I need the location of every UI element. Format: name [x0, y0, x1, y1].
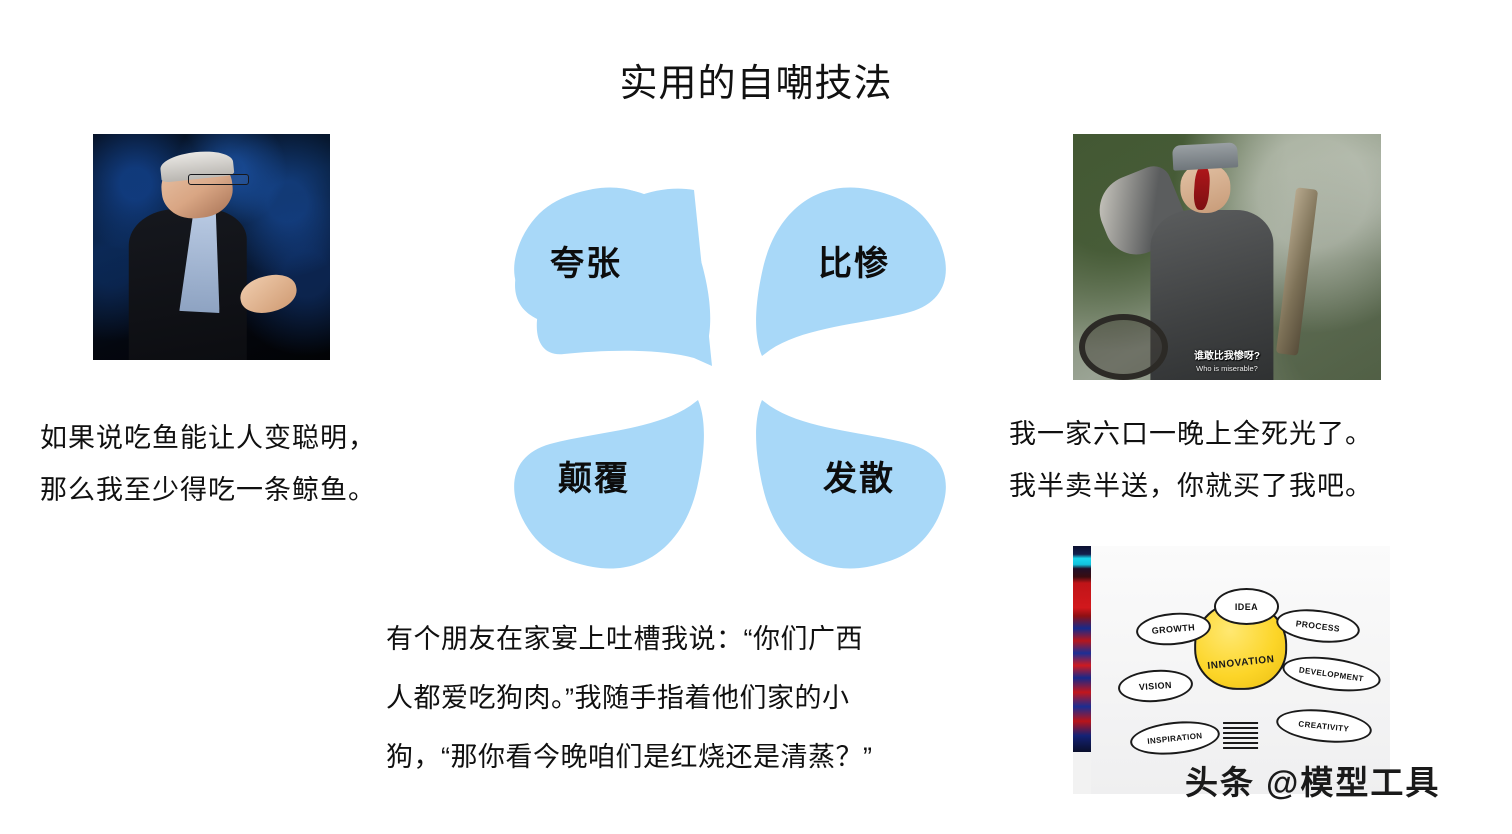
- petal-label-subvert[interactable]: 颠覆: [558, 451, 630, 500]
- mindmap-node-creativity: CREATIVITY: [1275, 705, 1374, 747]
- film-subtitle-chinese: 谁敢比我惨呀?: [1073, 351, 1381, 363]
- film-subtitle-english: Who is miserable?: [1073, 364, 1381, 374]
- caption-bottom-line-2: 人都爱吃狗肉。”我随手指着他们家的小: [386, 669, 1066, 728]
- slide-canvas: 实用的自嘲技法 谁敢比我惨呀? Who is miserable?: [0, 0, 1512, 834]
- petal-label-exaggerate[interactable]: 夸张: [550, 236, 622, 285]
- speaker-glasses: [188, 174, 249, 185]
- caption-right: 我一家六口一晚上全死光了。 我半卖半送，你就买了我吧。: [1009, 408, 1373, 512]
- petal-label-diverge[interactable]: 发散: [823, 451, 895, 500]
- mindmap-node-inspiration: INSPIRATION: [1128, 717, 1221, 758]
- page-title: 实用的自嘲技法: [0, 62, 1512, 106]
- caption-right-line-2: 我半卖半送，你就买了我吧。: [1009, 460, 1373, 512]
- caption-left-line-2: 那么我至少得吃一条鲸鱼。: [40, 464, 376, 516]
- caption-left-line-1: 如果说吃鱼能让人变聪明，: [40, 412, 376, 464]
- petal-label-compare-misery[interactable]: 比惨: [818, 236, 890, 285]
- mindmap-node-development: DEVELOPMENT: [1281, 651, 1383, 697]
- caption-bottom-line-3: 狗，“那你看今晚咱们是红烧还是清蒸？”: [386, 728, 1066, 787]
- four-petal-diagram: 夸张 比惨 颠覆 发散: [498, 176, 962, 580]
- film-wooden-stick: [1275, 187, 1317, 356]
- mindmap-node-process: PROCESS: [1275, 605, 1362, 647]
- caption-left: 如果说吃鱼能让人变聪明， 那么我至少得吃一条鲸鱼。: [40, 412, 376, 516]
- mindmap-node-vision: VISION: [1117, 667, 1194, 704]
- film-still-photo: 谁敢比我惨呀? Who is miserable?: [1073, 134, 1381, 380]
- speaker-photo: [93, 134, 330, 360]
- caption-bottom-line-1: 有个朋友在家宴上吐槽我说：“你们广西: [386, 610, 1066, 669]
- lightbulb-base-icon: [1223, 722, 1259, 749]
- film-hat: [1173, 142, 1239, 170]
- mindmap-side-strip: [1073, 546, 1091, 752]
- caption-bottom: 有个朋友在家宴上吐槽我说：“你们广西 人都爱吃狗肉。”我随手指着他们家的小 狗，…: [386, 610, 1066, 787]
- watermark-text: 头条 @模型工具: [1185, 756, 1440, 804]
- caption-right-line-1: 我一家六口一晚上全死光了。: [1009, 408, 1373, 460]
